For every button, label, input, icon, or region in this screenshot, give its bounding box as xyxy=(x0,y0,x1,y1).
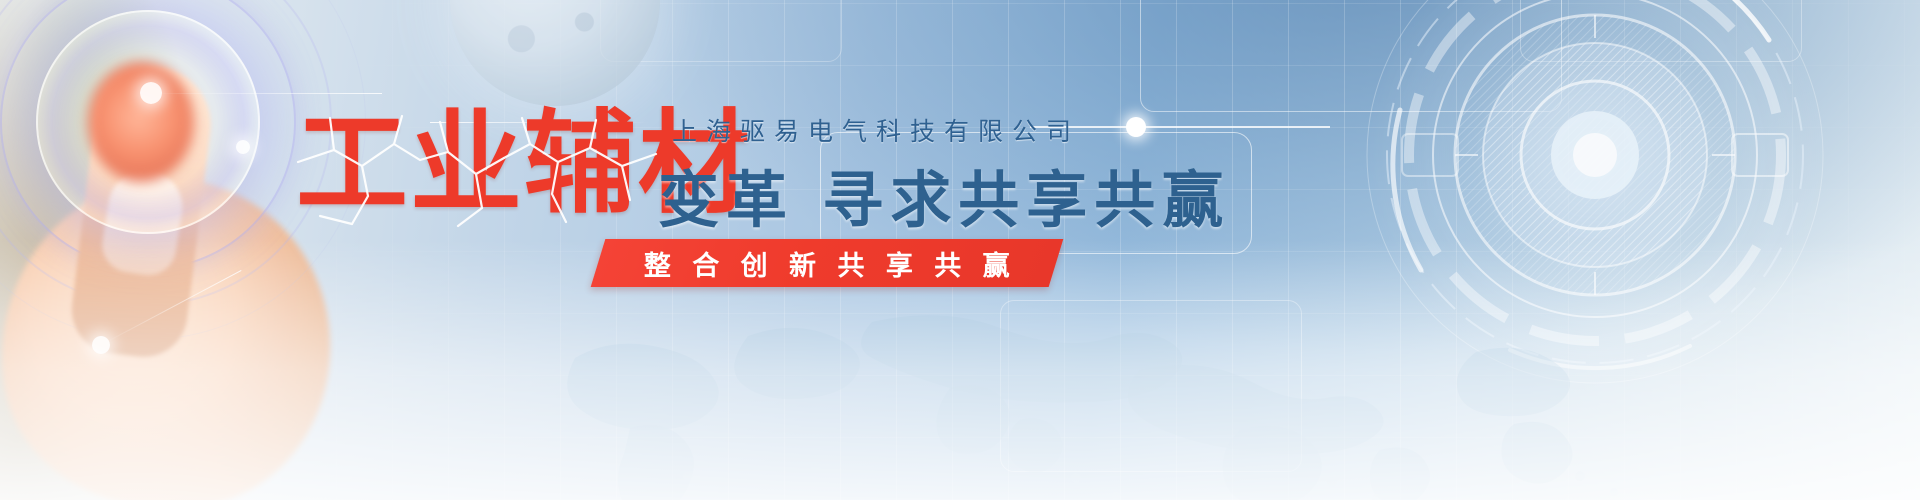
dotted-world-map xyxy=(480,300,1660,500)
moon-sphere xyxy=(450,0,660,106)
hand-touching-interface xyxy=(0,0,440,500)
slogan-ribbon-text: 整 合 创 新 共 享 共 赢 xyxy=(644,244,1016,283)
slogan-ribbon: 整 合 创 新 共 享 共 赢 xyxy=(591,239,1063,287)
network-node-icon xyxy=(236,140,250,154)
banner-slogan: 变革 寻求共享共赢 xyxy=(658,150,1230,239)
fingertip-glow xyxy=(88,62,194,182)
connector-node-icon xyxy=(1126,117,1146,137)
company-name: 上海驱易电气科技有限公司 xyxy=(672,112,1080,148)
network-link xyxy=(152,93,382,94)
hero-banner: 工业辅材 上海驱易电气科技有限公司 变革 寻求共享共赢 整 合 创 新 共 享 … xyxy=(0,0,1920,500)
